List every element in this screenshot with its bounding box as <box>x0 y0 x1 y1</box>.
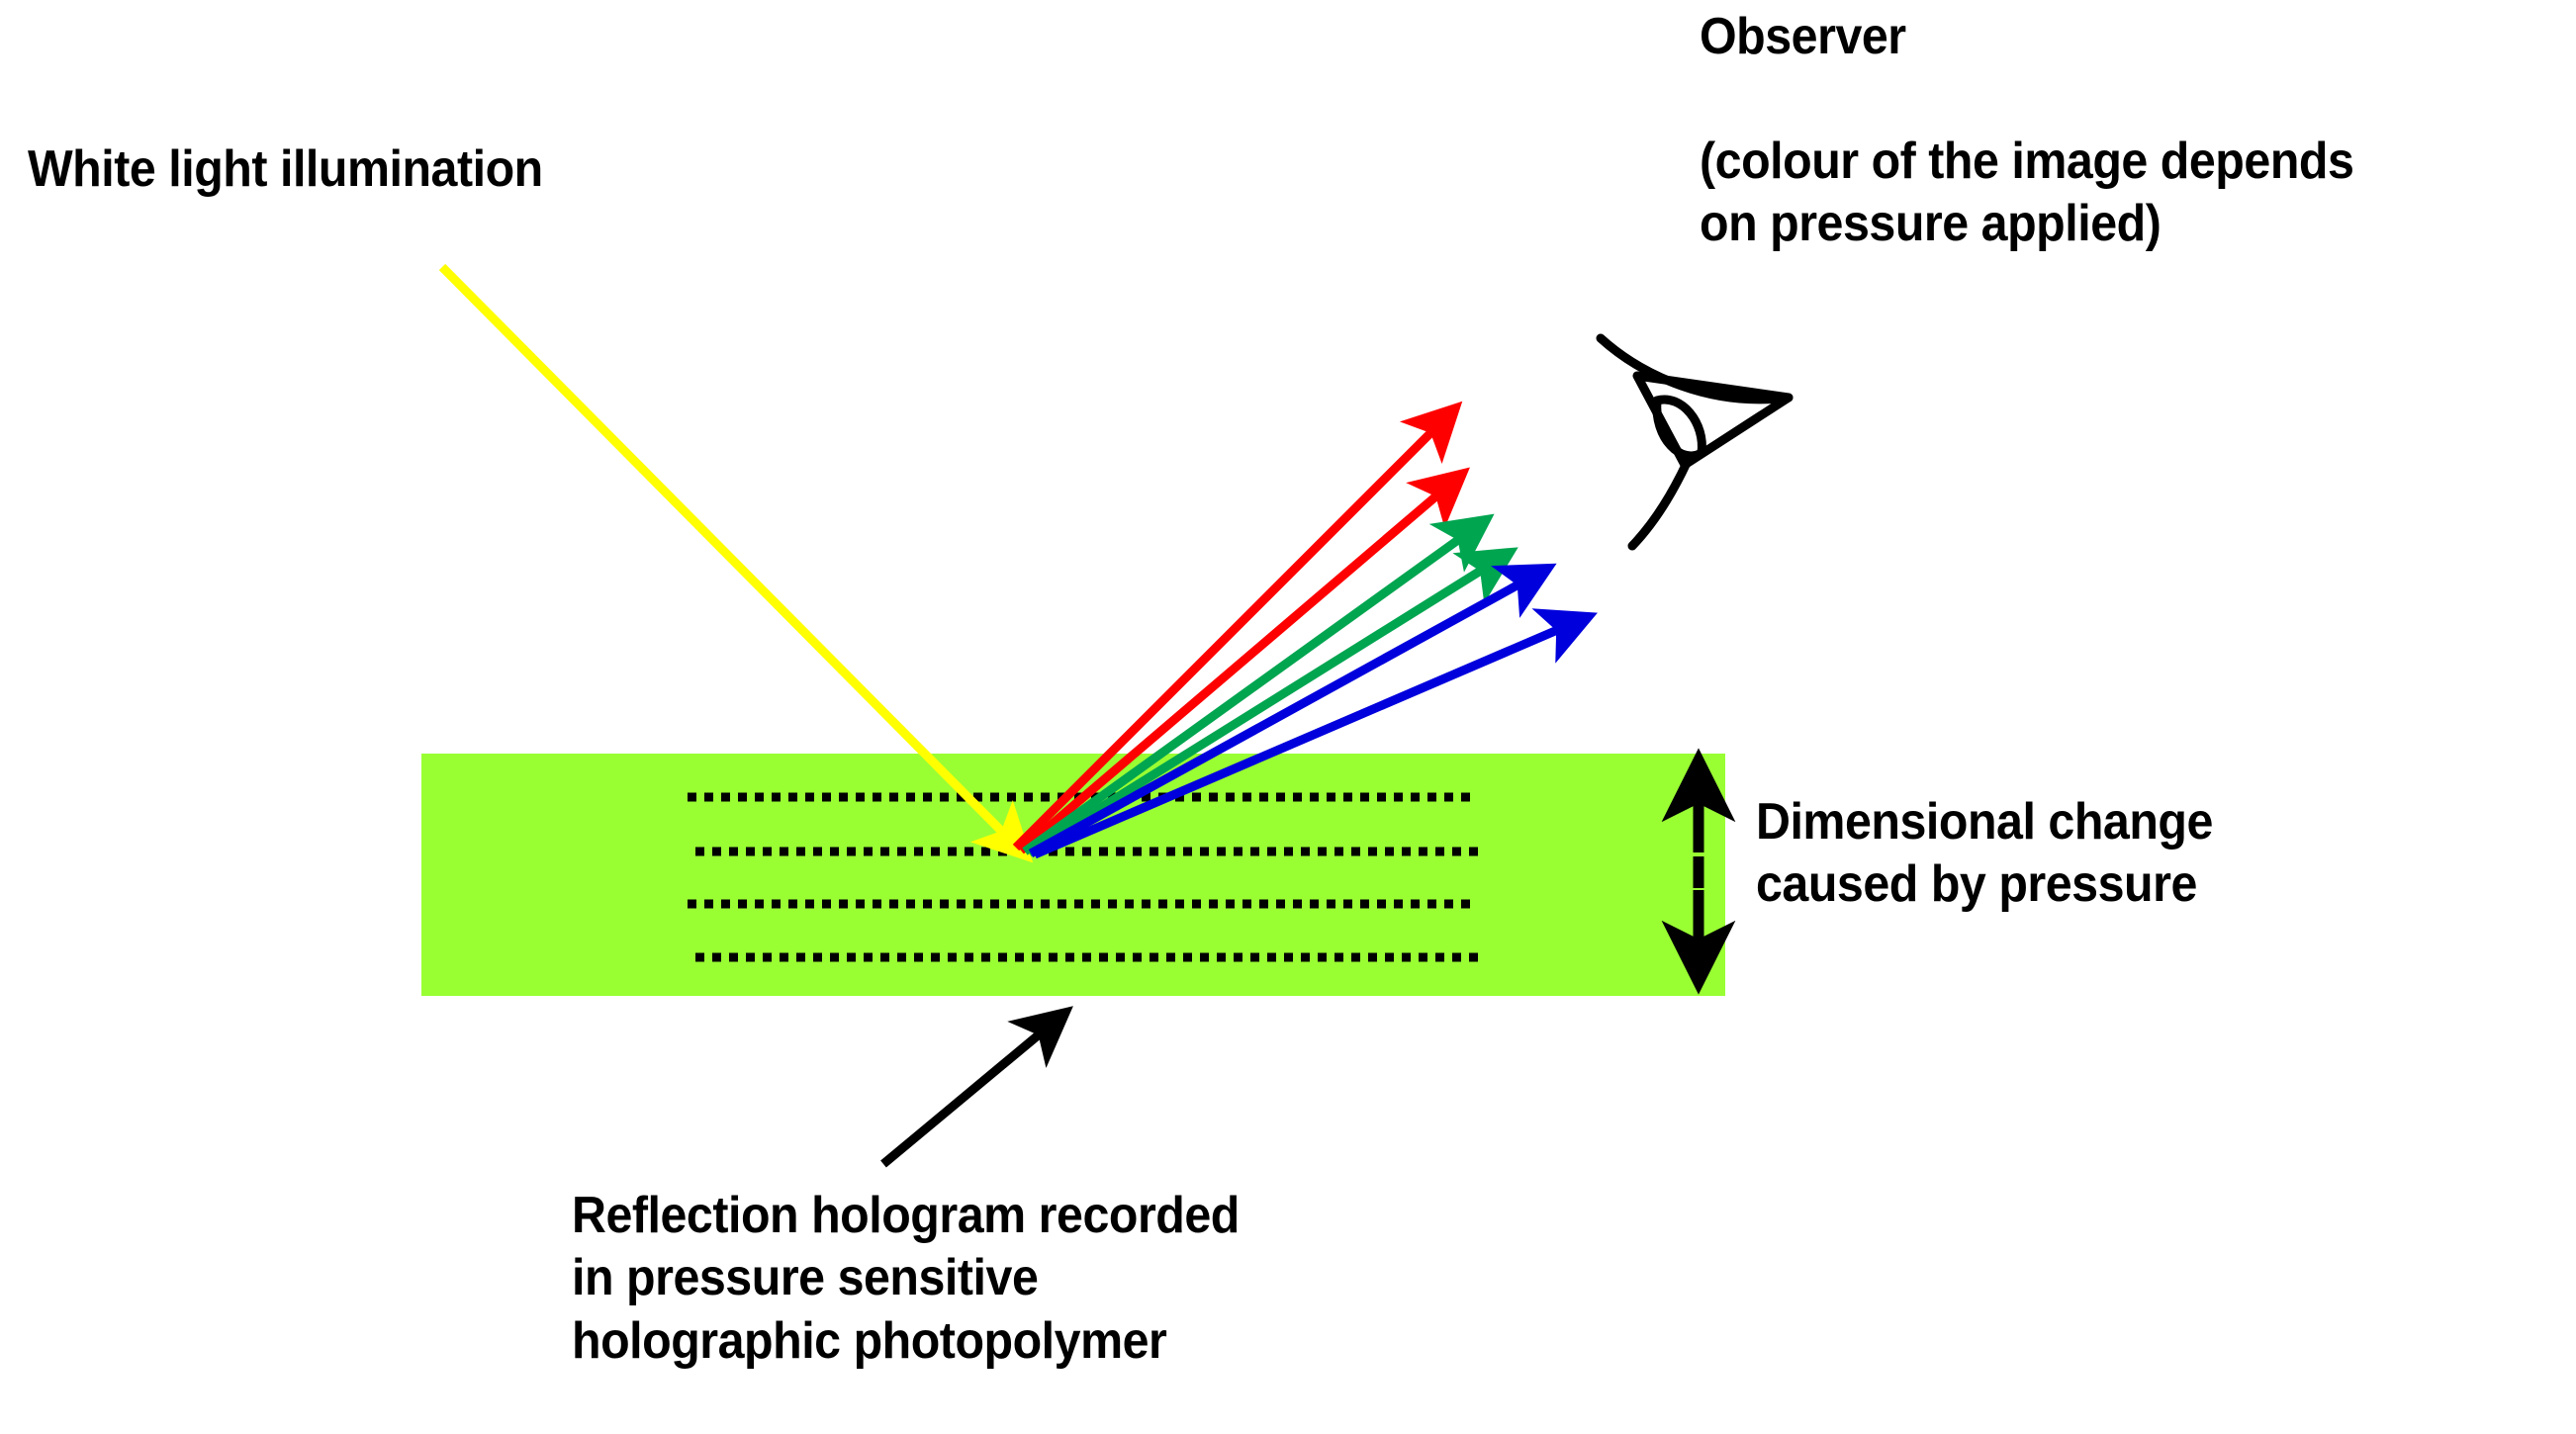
eye-icon <box>1601 338 1789 546</box>
caption-pointer-arrow <box>883 1027 1049 1164</box>
white-light-label: White light illumination <box>28 138 543 201</box>
diagram-canvas: White light illumination Observer (colou… <box>0 0 2576 1434</box>
dimensional-change-label: Dimensional change caused by pressure <box>1756 791 2213 917</box>
hologram-caption-label: Reflection hologram recorded in pressure… <box>572 1185 1240 1373</box>
eye-lower-curve <box>1632 463 1687 546</box>
observer-note-label: (colour of the image depends on pressure… <box>1700 131 2353 256</box>
eye-iris <box>1657 400 1702 456</box>
observer-label: Observer <box>1700 6 1906 68</box>
